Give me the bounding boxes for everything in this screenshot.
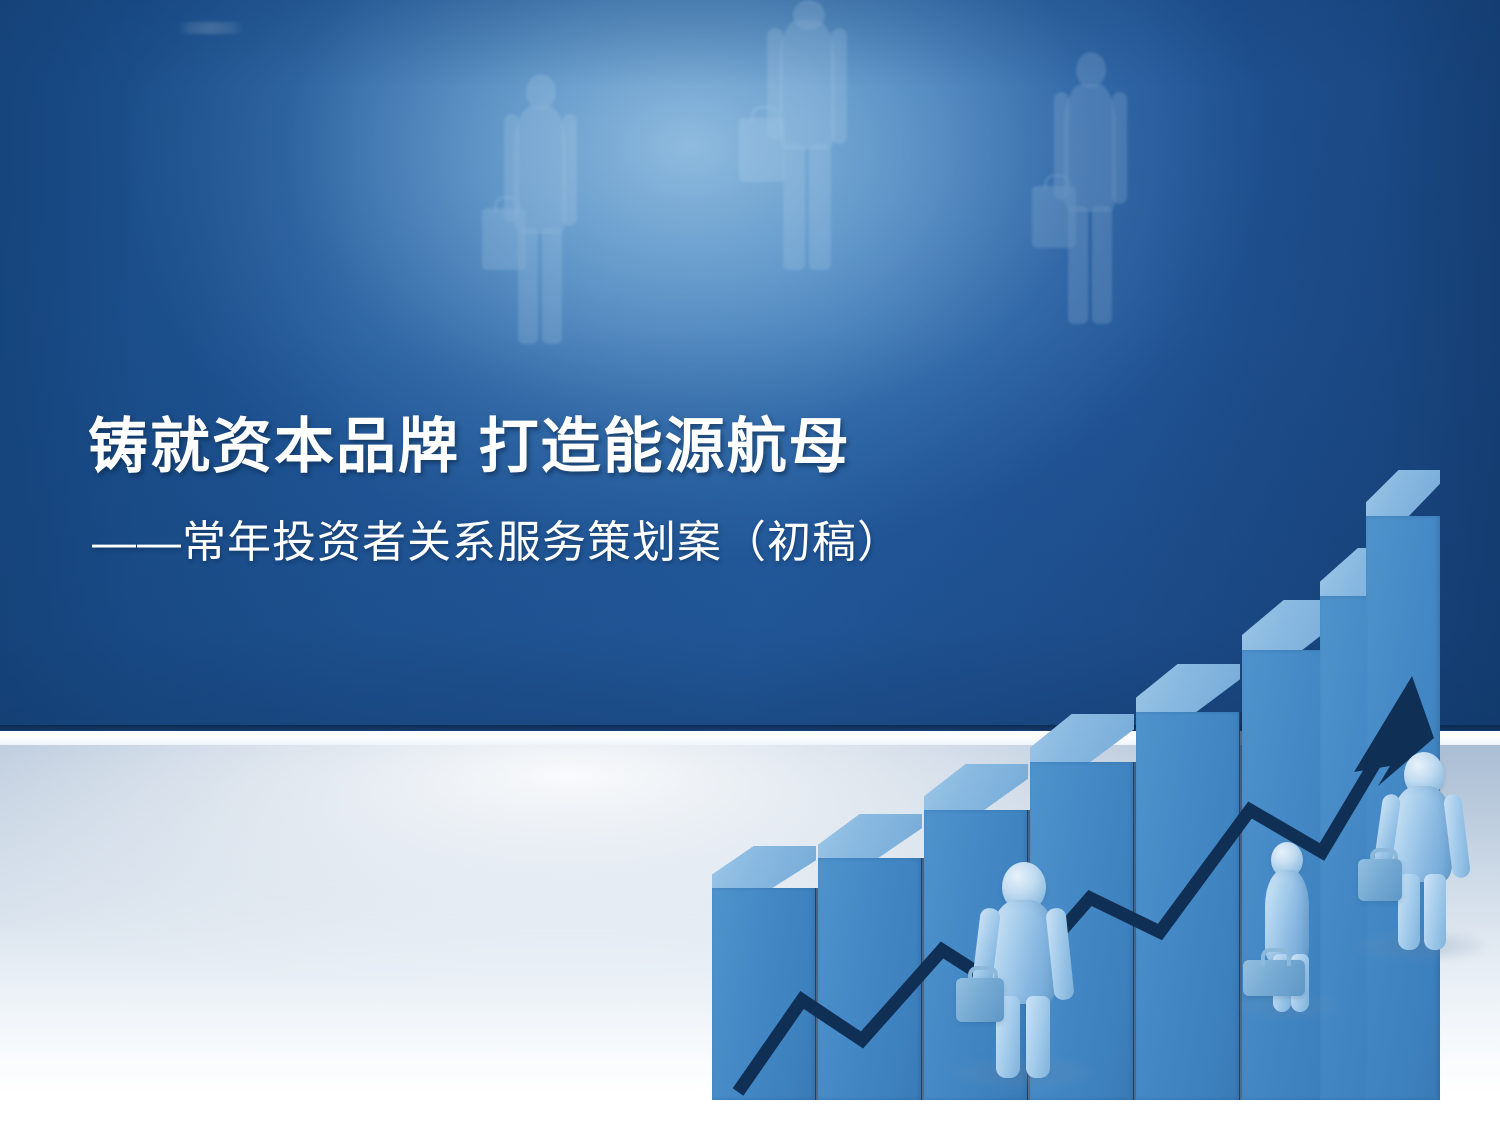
ghost-businessman-center: [745, 0, 875, 310]
slide-subtitle: ——常年投资者关系服务策划案（初稿）: [88, 517, 1088, 570]
bar-2: [818, 858, 922, 1100]
title-block: 铸就资本品牌 打造能源航母 ——常年投资者关系服务策划案（初稿）: [88, 412, 1088, 570]
bar-1: [712, 888, 816, 1100]
slide-main-title: 铸就资本品牌 打造能源航母: [88, 412, 1088, 483]
businessman-back-center: [1243, 842, 1335, 1012]
watermark-text: [178, 22, 244, 34]
businessman-front-left: [962, 862, 1090, 1077]
title-slide: 铸就资本品牌 打造能源航母 ——常年投资者关系服务策划案（初稿）: [0, 0, 1500, 1125]
ghost-businessman-left: [480, 48, 600, 348]
bar-5: [1136, 712, 1240, 1100]
ghost-businessman-right: [1030, 30, 1150, 330]
businessman-front-right: [1362, 752, 1480, 950]
